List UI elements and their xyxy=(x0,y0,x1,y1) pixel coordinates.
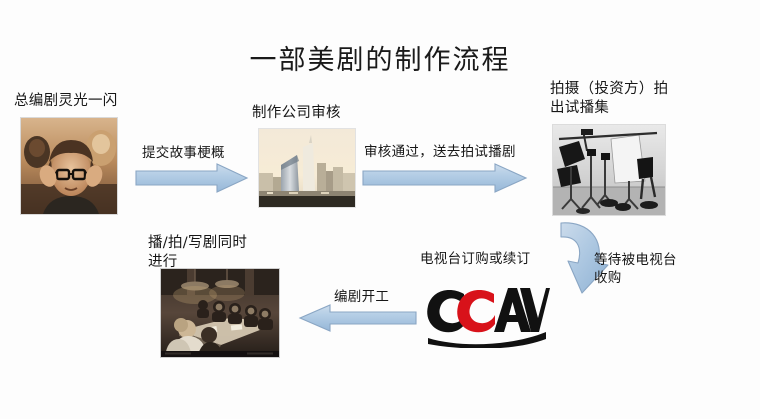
arrow-approved-pilot xyxy=(362,163,527,193)
arrow-label-network-order: 电视台订购或续订 xyxy=(420,250,530,268)
page-title: 一部美剧的制作流程 xyxy=(0,38,760,77)
arrow-submit-outline xyxy=(135,163,248,193)
label-production-company: 制作公司审核 xyxy=(252,104,341,123)
arrow-label-wait-acquisition: 等待被电视台 收购 xyxy=(594,251,677,287)
arrow-writers-start xyxy=(299,304,417,332)
arrow-label-submit-outline: 提交故事梗概 xyxy=(142,144,225,162)
photo-writers-room xyxy=(160,268,280,358)
label-writers-room: 播/拍/写剧同时 进行 xyxy=(148,234,247,272)
label-writer-idea: 总编剧灵光一闪 xyxy=(14,92,118,111)
slide-canvas: 一部美剧的制作流程 总编剧灵光一闪 xyxy=(0,0,760,419)
ccav-logo xyxy=(420,282,550,348)
label-shooting-pilot: 拍摄（投资方）拍 出试播集 xyxy=(550,80,668,118)
photo-city-skyline xyxy=(258,128,356,208)
photo-film-studio xyxy=(552,124,666,216)
photo-writer-headache xyxy=(20,117,118,215)
arrow-label-approved-pilot: 审核通过，送去拍试播剧 xyxy=(364,143,516,161)
